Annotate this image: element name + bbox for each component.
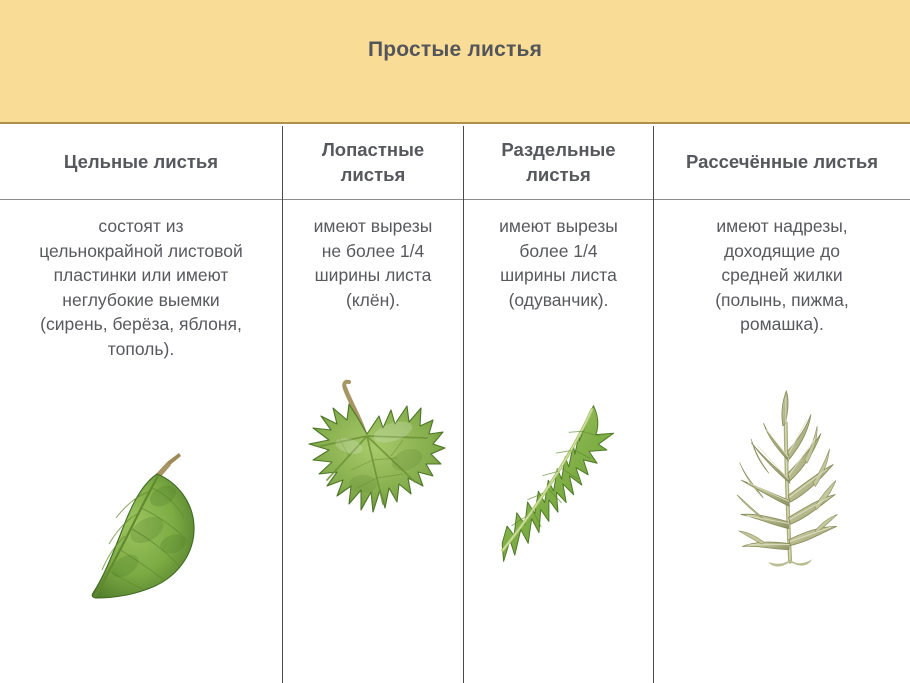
figure-whole-leaf-lilac xyxy=(0,426,282,626)
wormwood-leaf-icon xyxy=(692,384,872,584)
column-parted-leaves: Раздельные листья имеют вырезы более 1/4… xyxy=(463,126,653,683)
column-header-dissected-leaves: Рассечённые листья xyxy=(654,126,910,200)
maple-leaf-icon xyxy=(287,376,459,576)
column-dissected-leaves: Рассечённые листья имеют надрезы, доходя… xyxy=(653,126,910,683)
column-description-lobed-leaves: имеют вырезы не более 1/4 ширины листа (… xyxy=(283,200,463,312)
figure-dissected-leaf-wormwood xyxy=(654,384,910,584)
column-description-dissected-leaves: имеют надрезы, доходящие до средней жилк… xyxy=(654,200,910,337)
column-header-lobed-leaves: Лопастные листья xyxy=(283,126,463,200)
column-header-whole-leaves: Цельные листья xyxy=(0,126,282,200)
figure-parted-leaf-dandelion xyxy=(464,391,653,591)
page-title: Простые листья xyxy=(0,38,910,62)
leaf-types-table: Цельные листья состоят из цельнокрайной … xyxy=(0,126,910,683)
column-whole-leaves: Цельные листья состоят из цельнокрайной … xyxy=(0,126,282,683)
column-header-label: Лопастные листья xyxy=(289,138,457,187)
whole-leaf-icon xyxy=(51,426,231,626)
column-header-label: Рассечённые листья xyxy=(686,150,878,174)
column-description-parted-leaves: имеют вырезы более 1/4 ширины листа (оду… xyxy=(464,200,653,312)
title-band: Простые листья xyxy=(0,0,910,124)
column-header-label: Раздельные листья xyxy=(470,138,647,187)
dandelion-leaf-icon xyxy=(484,391,634,591)
column-header-parted-leaves: Раздельные листья xyxy=(464,126,653,200)
column-header-label: Цельные листья xyxy=(64,150,218,174)
column-lobed-leaves: Лопастные листья имеют вырезы не более 1… xyxy=(282,126,463,683)
figure-lobed-leaf-maple xyxy=(283,376,463,576)
column-description-whole-leaves: состоят из цельнокрайной листовой пласти… xyxy=(0,200,282,361)
leaf-types-table-page: Простые листья Цельные листья состоят из… xyxy=(0,0,910,683)
